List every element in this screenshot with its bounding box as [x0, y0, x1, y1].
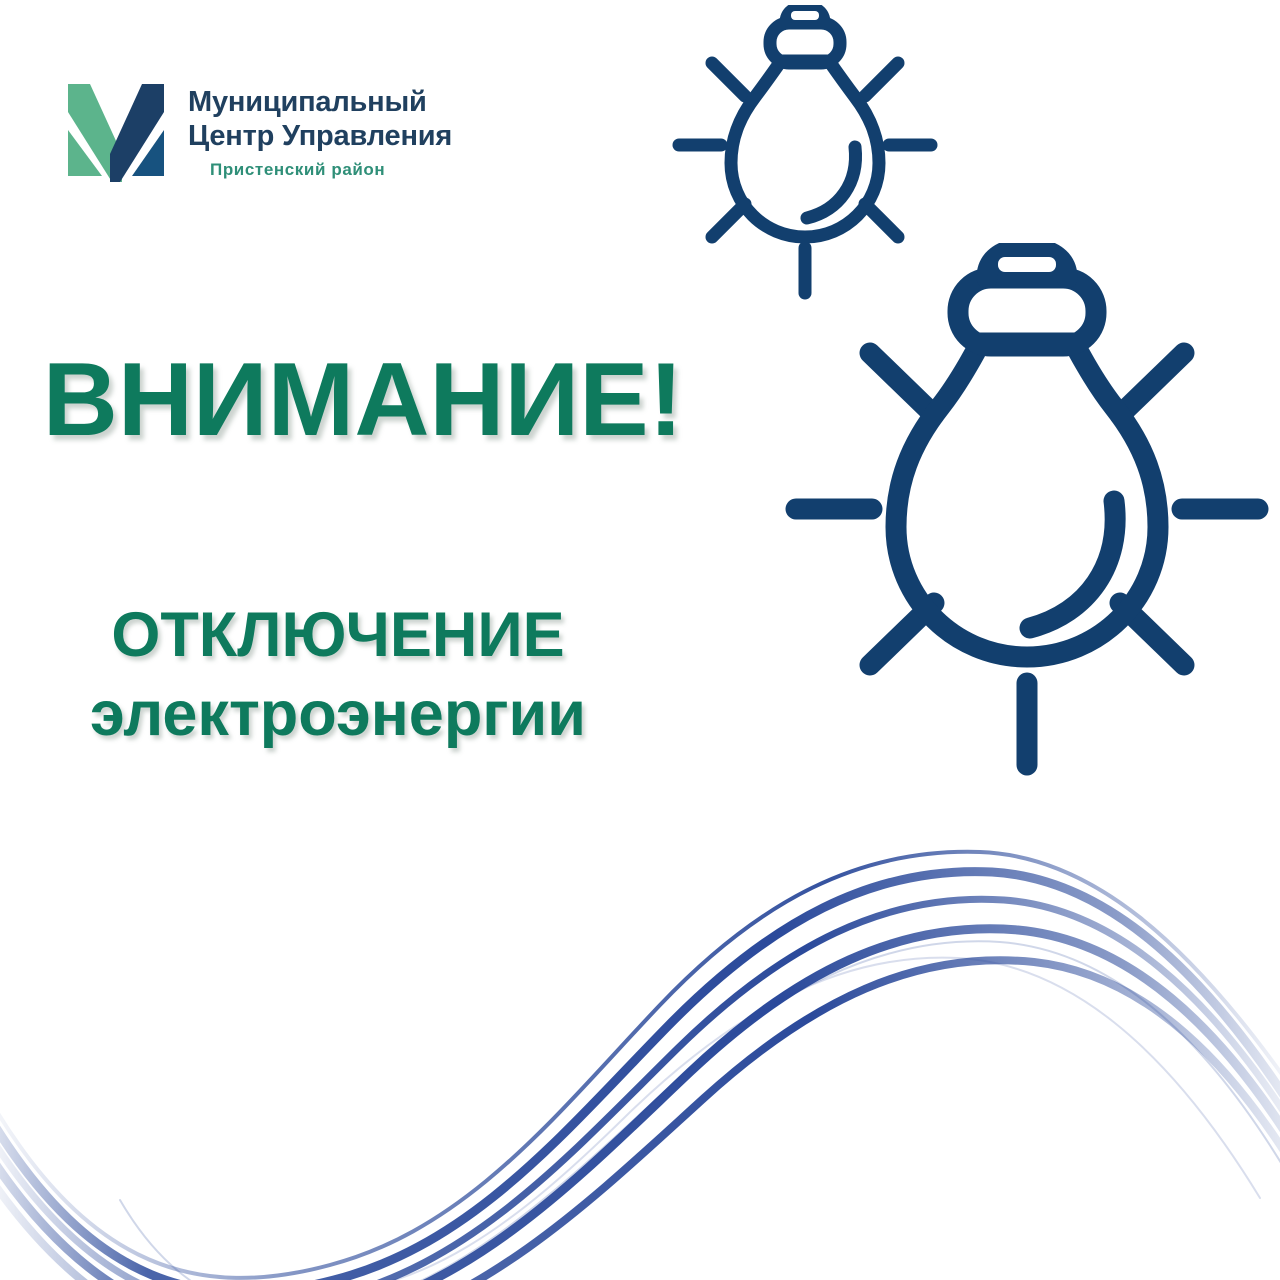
logo-wordmark: Муниципальный Центр Управления Пристенск… [188, 82, 452, 180]
logo-subtitle-district: Пристенский район [210, 160, 452, 180]
logo-line-2: Центр Управления [188, 120, 452, 154]
sine-wave-decoration [0, 800, 1280, 1280]
poster-canvas: Муниципальный Центр Управления Пристенск… [0, 0, 1280, 1280]
light-bulb-icon-large [782, 243, 1272, 783]
logo-line-1: Муниципальный [188, 86, 452, 120]
subheadline-line-1: ОТКЛЮЧЕНИЕ [18, 604, 658, 667]
subheadline-block: ОТКЛЮЧЕНИЕ электроэнергии [18, 604, 658, 746]
organization-logo: Муниципальный Центр Управления Пристенск… [60, 82, 452, 184]
subheadline-line-2: электроэнергии [18, 683, 658, 746]
headline-attention: ВНИМАНИЕ! [18, 348, 708, 452]
mcu-checkmark-logo-icon [60, 82, 172, 184]
